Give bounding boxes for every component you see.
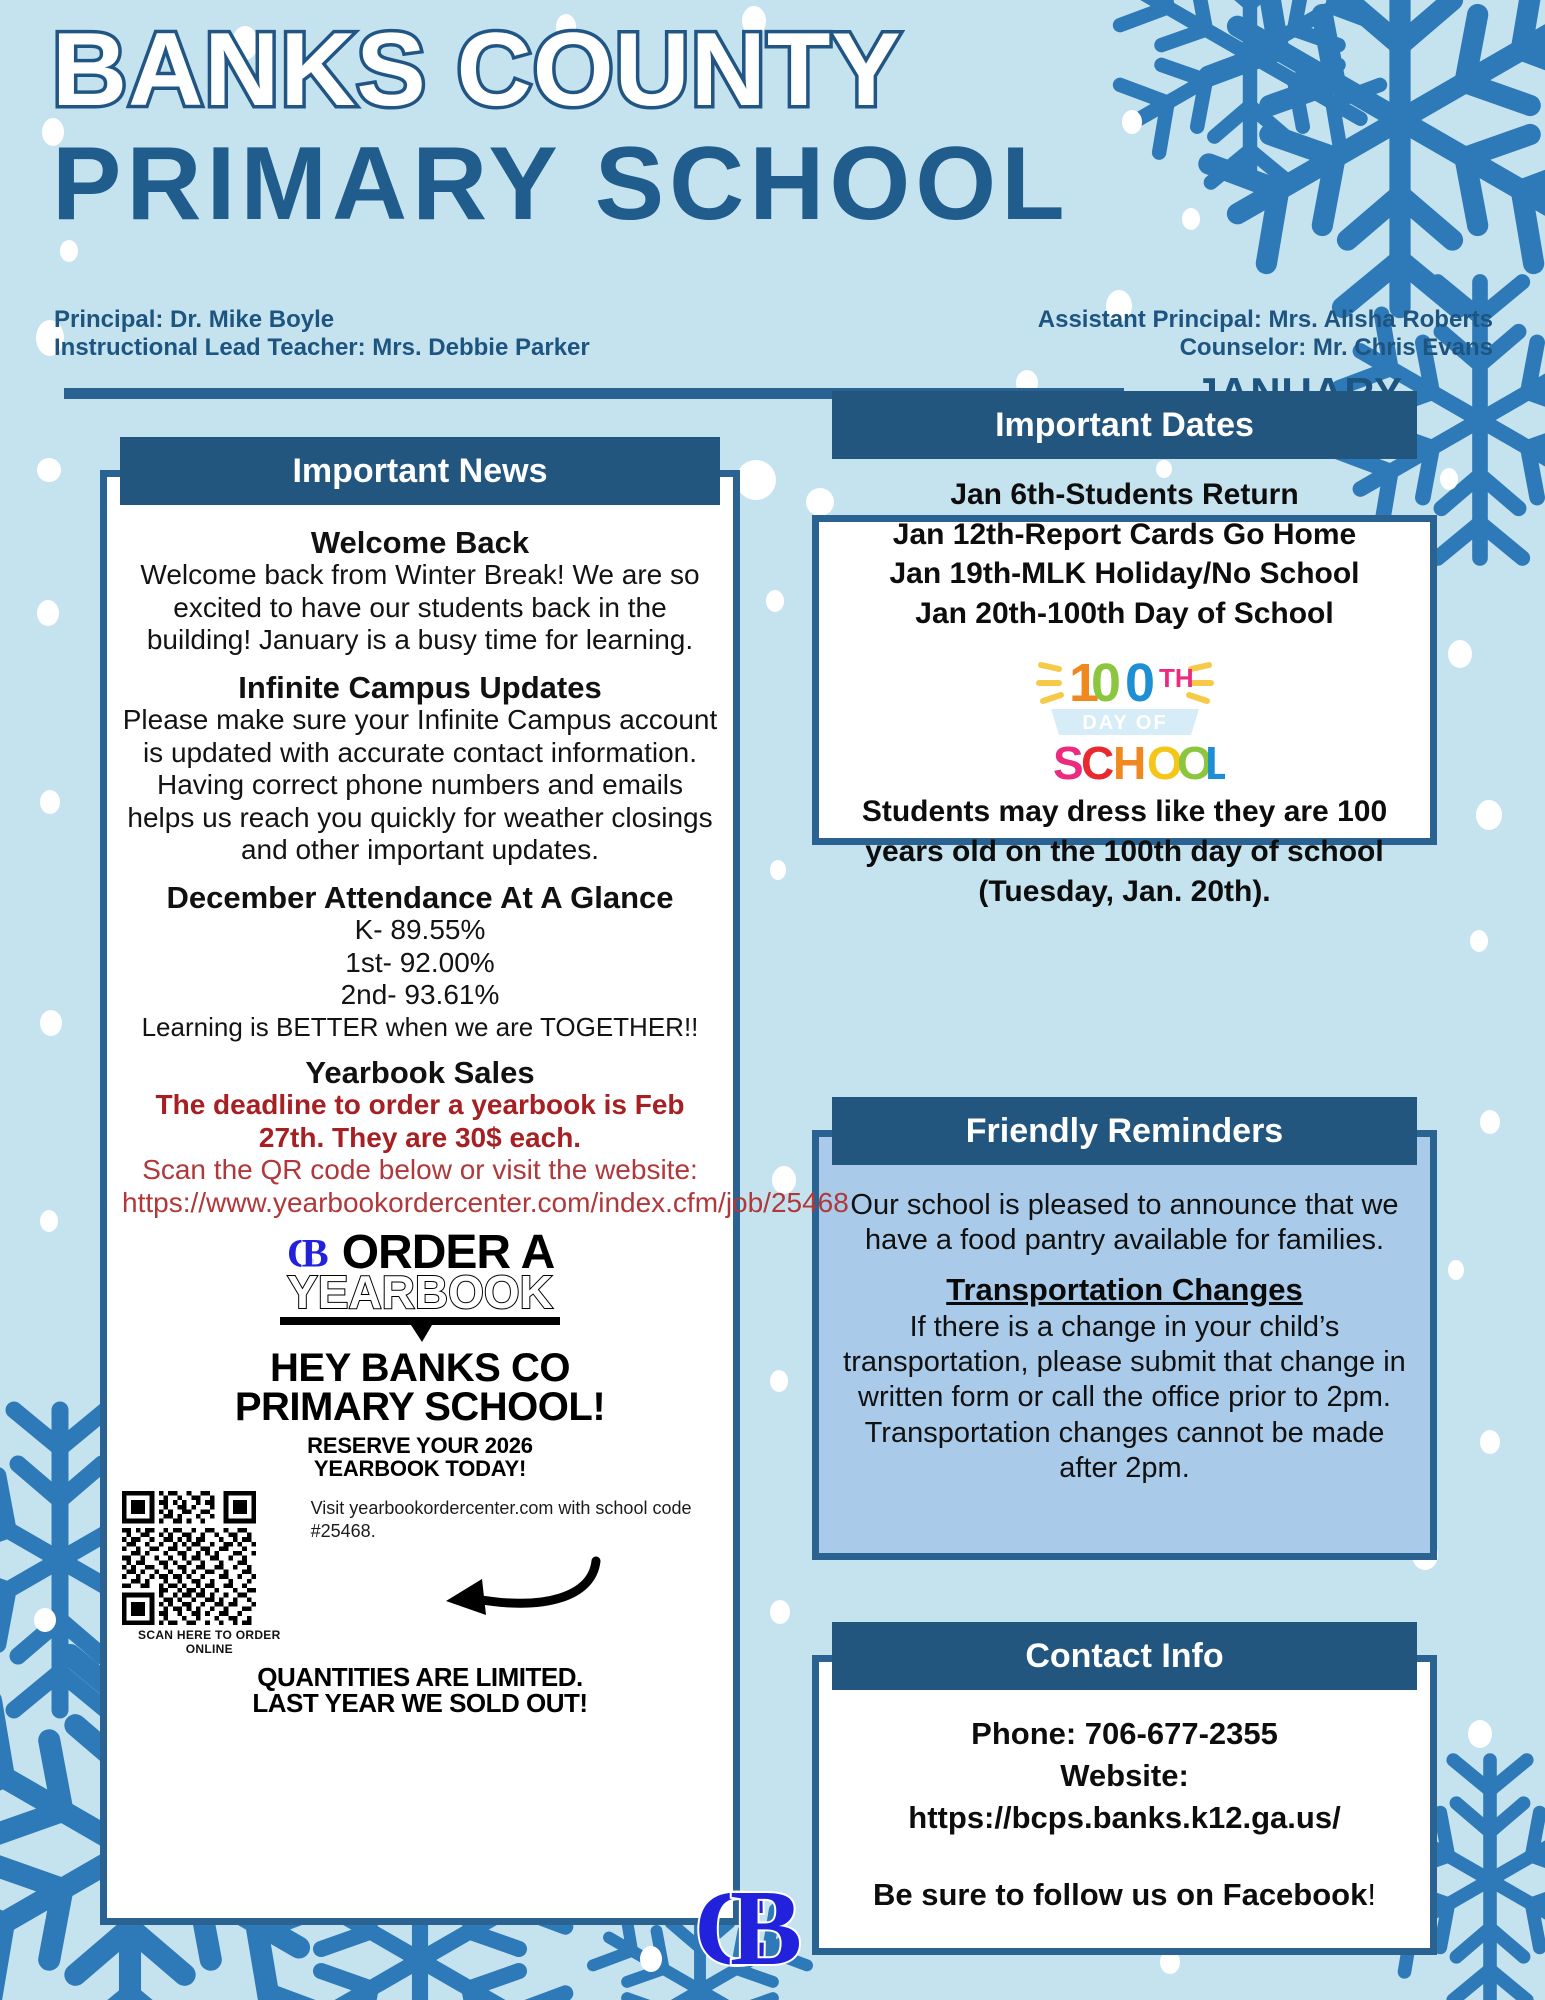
food-pantry-text: Our school is pleased to announce that w… bbox=[838, 1188, 1411, 1259]
yearbook-scan-line: Scan the QR code below or visit the webs… bbox=[122, 1154, 718, 1186]
welcome-back-body: Welcome back from Winter Break! We are s… bbox=[122, 559, 718, 656]
snow-dot bbox=[1470, 930, 1488, 952]
svg-text:TH: TH bbox=[1159, 663, 1194, 693]
important-dates-body: Jan 6th-Students Return Jan 12th-Report … bbox=[812, 475, 1437, 911]
100th-day-of-school-icon: 1 0 0 TH DAY OF S C H O O L bbox=[1025, 643, 1225, 788]
contact-website-label: Website: bbox=[834, 1755, 1415, 1797]
principal-line: Principal: Dr. Mike Boyle bbox=[54, 306, 590, 334]
yearbook-url: https://www.yearbookordercenter.com/inde… bbox=[122, 1187, 718, 1219]
snow-dot bbox=[40, 1010, 62, 1036]
welcome-back-title: Welcome Back bbox=[122, 526, 718, 559]
contact-info-body: Phone: 706-677-2355 Website: https://bcp… bbox=[812, 1713, 1437, 1913]
transportation-changes-title: Transportation Changes bbox=[838, 1271, 1411, 1310]
yearbook-ad-quantities-line1: QUANTITIES ARE LIMITED. bbox=[122, 1664, 718, 1690]
attendance-2nd: 2nd- 93.61% bbox=[122, 979, 718, 1011]
staff-right-block: Assistant Principal: Mrs. Alisha Roberts… bbox=[1038, 306, 1493, 363]
date-item: Jan 19th-MLK Holiday/No School bbox=[834, 554, 1415, 594]
snow-dot bbox=[1448, 1260, 1464, 1280]
svg-text:0: 0 bbox=[1091, 653, 1121, 713]
school-name-line2: PRIMARY SCHOOL bbox=[52, 132, 1070, 236]
yearbook-deadline: The deadline to order a yearbook is Feb … bbox=[122, 1089, 718, 1154]
svg-text:H: H bbox=[1113, 737, 1146, 788]
contact-phone: Phone: 706-677-2355 bbox=[834, 1713, 1415, 1755]
important-dates-heading: Important Dates bbox=[832, 391, 1417, 459]
yearbook-ad-visit-block: Visit yearbookordercenter.com with schoo… bbox=[311, 1491, 718, 1624]
contact-info-heading: Contact Info bbox=[832, 1622, 1417, 1690]
yearbook-ad-hey-line2: PRIMARY SCHOOL! bbox=[122, 1388, 718, 1427]
snow-dot bbox=[640, 1946, 662, 1972]
contact-website-url: https://bcps.banks.k12.ga.us/ bbox=[834, 1797, 1415, 1839]
yearbook-ad-qr-row: SCAN HERE TO ORDER ONLINE Visit yearbook… bbox=[122, 1491, 718, 1656]
transportation-changes-body: If there is a change in your child’s tra… bbox=[838, 1310, 1411, 1487]
snow-dot bbox=[1480, 1430, 1500, 1454]
yearbook-ad-reserve-line1: RESERVE YOUR 2026 bbox=[122, 1435, 718, 1458]
important-dates-card: Important Dates Jan 6th-Students Return … bbox=[812, 515, 1437, 845]
friendly-reminders-heading: Friendly Reminders bbox=[832, 1097, 1417, 1165]
infinite-campus-body: Please make sure your Infinite Campus ac… bbox=[122, 704, 718, 866]
infinite-campus-title: Infinite Campus Updates bbox=[122, 671, 718, 704]
snow-dot bbox=[40, 1210, 58, 1232]
important-news-card: Important News Welcome Back Welcome back… bbox=[100, 470, 740, 1925]
svg-text:0: 0 bbox=[1125, 653, 1155, 713]
attendance-1st: 1st- 92.00% bbox=[122, 947, 718, 979]
date-item: Jan 12th-Report Cards Go Home bbox=[834, 515, 1415, 555]
friendly-reminders-card: Friendly Reminders Our school is pleased… bbox=[812, 1130, 1437, 1560]
contact-facebook-tail: ! bbox=[1367, 1877, 1376, 1912]
snow-dot bbox=[1480, 1110, 1500, 1134]
snow-dot bbox=[1122, 110, 1142, 134]
counselor-line: Counselor: Mr. Chris Evans bbox=[1038, 334, 1493, 362]
snow-dot bbox=[770, 1600, 790, 1624]
snow-dot bbox=[770, 860, 786, 880]
yearbook-ad-graphic: C B ORDER A YEARBOOK HEY BANKS CO PRIMAR… bbox=[122, 1229, 718, 1716]
yearbook-ad-visit-text: Visit yearbookordercenter.com with schoo… bbox=[311, 1491, 718, 1543]
friendly-reminders-heading-label: Friendly Reminders bbox=[966, 1112, 1283, 1151]
snow-dot bbox=[37, 600, 59, 626]
qr-block: SCAN HERE TO ORDER ONLINE bbox=[122, 1491, 297, 1656]
friendly-reminders-body: Our school is pleased to announce that w… bbox=[812, 1188, 1437, 1486]
snow-dot bbox=[1182, 208, 1200, 230]
snow-dot bbox=[60, 240, 78, 262]
contact-info-heading-label: Contact Info bbox=[1025, 1637, 1223, 1676]
contact-facebook-bold: Be sure to follow us on Facebook bbox=[873, 1877, 1367, 1912]
contact-info-card: Contact Info Phone: 706-677-2355 Website… bbox=[812, 1655, 1437, 1955]
assistant-principal-line: Assistant Principal: Mrs. Alisha Roberts bbox=[1038, 306, 1493, 334]
snow-dot bbox=[1468, 1720, 1492, 1748]
important-news-heading-label: Important News bbox=[292, 452, 547, 491]
snow-dot bbox=[766, 590, 784, 612]
hundred-day-note: Students may dress like they are 100 yea… bbox=[834, 792, 1415, 911]
snow-dot bbox=[40, 790, 60, 814]
svg-text:C: C bbox=[1081, 737, 1114, 788]
attendance-tagline: Learning is BETTER when we are TOGETHER!… bbox=[122, 1012, 718, 1042]
yearbook-ad-quantities-line2: LAST YEAR WE SOLD OUT! bbox=[122, 1690, 718, 1716]
curved-arrow-icon bbox=[424, 1549, 604, 1619]
bc-school-logo-icon: C B bbox=[692, 1868, 822, 1988]
important-news-heading: Important News bbox=[120, 437, 720, 505]
snow-dot bbox=[37, 458, 61, 482]
contact-facebook: Be sure to follow us on Facebook! bbox=[834, 1877, 1415, 1913]
yearbook-ad-yearbook-text: YEARBOOK bbox=[122, 1271, 718, 1315]
date-item: Jan 20th-100th Day of School bbox=[834, 594, 1415, 634]
important-news-body: Welcome Back Welcome back from Winter Br… bbox=[100, 520, 740, 1716]
date-item: Jan 6th-Students Return bbox=[834, 475, 1415, 515]
attendance-k: K- 89.55% bbox=[122, 914, 718, 946]
important-dates-heading-label: Important Dates bbox=[995, 406, 1254, 445]
staff-left-block: Principal: Dr. Mike Boyle Instructional … bbox=[54, 306, 590, 363]
snow-dot bbox=[736, 460, 776, 500]
svg-text:DAY OF: DAY OF bbox=[1082, 712, 1167, 734]
svg-text:L: L bbox=[1205, 737, 1225, 788]
newsletter-page: BANKS COUNTY PRIMARY SCHOOL Principal: D… bbox=[0, 0, 1545, 2000]
qr-code-icon bbox=[122, 1491, 256, 1625]
yearbook-ad-hey-line1: HEY BANKS CO bbox=[122, 1349, 718, 1388]
school-name-line1: BANKS COUNTY bbox=[52, 18, 902, 122]
svg-text:S: S bbox=[1053, 737, 1084, 788]
svg-text:B: B bbox=[730, 1869, 802, 1988]
snow-dot bbox=[1448, 640, 1472, 668]
ilt-line: Instructional Lead Teacher: Mrs. Debbie … bbox=[54, 334, 590, 362]
qr-caption: SCAN HERE TO ORDER ONLINE bbox=[122, 1628, 297, 1656]
snow-dot bbox=[1440, 468, 1458, 490]
snow-dot bbox=[770, 1370, 788, 1392]
yearbook-ad-reserve-line2: YEARBOOK TODAY! bbox=[122, 1458, 718, 1481]
snow-dot bbox=[1476, 800, 1502, 830]
yearbook-sales-title: Yearbook Sales bbox=[122, 1056, 718, 1089]
book-spine-icon bbox=[280, 1317, 560, 1343]
attendance-title: December Attendance At A Glance bbox=[122, 881, 718, 914]
snow-dot bbox=[34, 1608, 56, 1632]
